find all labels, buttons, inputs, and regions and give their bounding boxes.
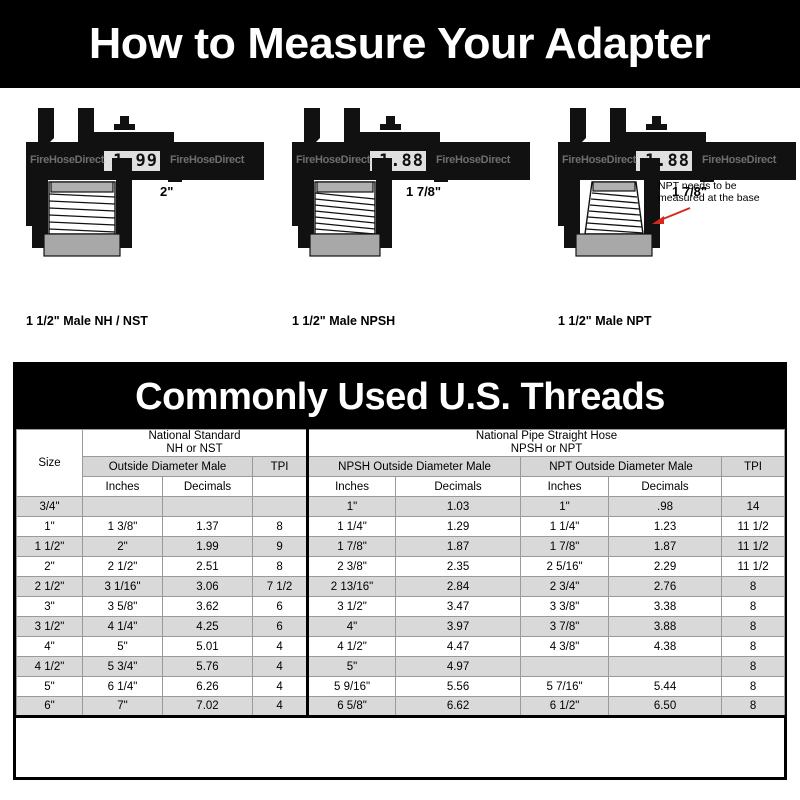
cell-npsh-decimals: 3.97	[396, 617, 521, 637]
cell-npsh-decimals: 6.62	[396, 697, 521, 717]
header-group-np: National Pipe Straight Hose NPSH or NPT	[308, 430, 785, 457]
cell-npsh-decimals: 3.47	[396, 597, 521, 617]
cell-npt-inches: 1 7/8"	[521, 537, 609, 557]
cell-npt-decimals: 3.38	[609, 597, 722, 617]
cell-npt-decimals: 6.50	[609, 697, 722, 717]
cell-npt-inches: 5 7/16"	[521, 677, 609, 697]
measurement-callout: 2"	[160, 184, 173, 199]
cell-npsh-decimals: 2.35	[396, 557, 521, 577]
diagram-npsh: FireHoseDirect FireHoseDirect 1.88 1 7/8…	[274, 88, 540, 350]
strip-watermark-left: FireHoseDirect	[296, 154, 370, 166]
cell-nh-decimals: 5.01	[163, 637, 253, 657]
table-row: 1"1 3/8"1.3781 1/4"1.291 1/4"1.2311 1/2	[17, 517, 785, 537]
header-group-np-line1: National Pipe Straight Hose	[309, 430, 784, 443]
cell-nh-tpi: 7 1/2	[253, 577, 308, 597]
caliper-illustration-nh-nst	[8, 98, 274, 288]
cell-np-tpi: 8	[722, 697, 785, 717]
cell-nh-tpi	[253, 497, 308, 517]
cell-npsh-decimals: 1.29	[396, 517, 521, 537]
caliper-display-value: 1.99	[113, 151, 158, 171]
cell-nh-inches: 5 3/4"	[83, 657, 163, 677]
cell-npsh-inches: 3 1/2"	[308, 597, 396, 617]
cell-nh-tpi: 4	[253, 637, 308, 657]
cell-npt-decimals	[609, 657, 722, 677]
cell-npt-inches: 3 3/8"	[521, 597, 609, 617]
cell-npsh-inches: 5"	[308, 657, 396, 677]
cell-size: 1"	[17, 517, 83, 537]
caliper-display-value: 1.88	[645, 151, 690, 171]
table-row: 3/4"1"1.031".9814	[17, 497, 785, 517]
cell-np-tpi: 8	[722, 657, 785, 677]
table-header-row-sub: Outside Diameter Male TPI NPSH Outside D…	[17, 457, 785, 477]
diagram-npt: FireHoseDirect FireHoseDirect 1.88 1 7/8…	[540, 88, 800, 350]
strip-watermark-left: FireHoseDirect	[562, 154, 636, 166]
cell-np-tpi: 11 1/2	[722, 517, 785, 537]
cell-size: 3/4"	[17, 497, 83, 517]
cell-nh-tpi: 6	[253, 597, 308, 617]
table-row: 5"6 1/4"6.2645 9/16"5.565 7/16"5.448	[17, 677, 785, 697]
cell-size: 4"	[17, 637, 83, 657]
header-unit-blank-np-tpi	[722, 477, 785, 497]
diagram-caption: 1 1/2" Male NH / NST	[26, 314, 148, 328]
cell-nh-inches: 3 5/8"	[83, 597, 163, 617]
cell-npt-inches: 2 3/4"	[521, 577, 609, 597]
cell-size: 4 1/2"	[17, 657, 83, 677]
cell-npsh-decimals: 4.47	[396, 637, 521, 657]
cell-npt-inches: 2 5/16"	[521, 557, 609, 577]
threads-table-block: Commonly Used U.S. Threads Size National…	[13, 362, 787, 780]
page-title-banner: How to Measure Your Adapter	[0, 0, 800, 88]
cell-npsh-inches: 5 9/16"	[308, 677, 396, 697]
cell-npt-inches: 1"	[521, 497, 609, 517]
cell-npt-decimals: 2.29	[609, 557, 722, 577]
cell-nh-inches: 7"	[83, 697, 163, 717]
header-unit-inches-nh: Inches	[83, 477, 163, 497]
cell-nh-inches: 2"	[83, 537, 163, 557]
table-row: 4 1/2"5 3/4"5.7645"4.978	[17, 657, 785, 677]
table-row: 3 1/2"4 1/4"4.2564"3.973 7/8"3.888	[17, 617, 785, 637]
npt-note-line1: NPT needs to be	[658, 180, 737, 192]
cell-nh-decimals: 1.99	[163, 537, 253, 557]
header-unit-decimals-npt: Decimals	[609, 477, 722, 497]
cell-npsh-inches: 4"	[308, 617, 396, 637]
cell-npsh-decimals: 5.56	[396, 677, 521, 697]
cell-size: 1 1/2"	[17, 537, 83, 557]
cell-npsh-inches: 1 7/8"	[308, 537, 396, 557]
table-row: 4"5"5.0144 1/2"4.474 3/8"4.388	[17, 637, 785, 657]
cell-nh-inches: 6 1/4"	[83, 677, 163, 697]
header-group-nh-line1: National Standard	[83, 430, 306, 443]
cell-nh-inches: 3 1/16"	[83, 577, 163, 597]
cell-np-tpi: 8	[722, 577, 785, 597]
cell-nh-tpi: 4	[253, 677, 308, 697]
table-head: Size National Standard NH or NST Nationa…	[17, 430, 785, 497]
cell-nh-inches: 1 3/8"	[83, 517, 163, 537]
header-group-nh-line2: NH or NST	[83, 443, 306, 456]
cell-npt-inches	[521, 657, 609, 677]
cell-npsh-decimals: 1.87	[396, 537, 521, 557]
cell-np-tpi: 14	[722, 497, 785, 517]
cell-nh-inches	[83, 497, 163, 517]
cell-nh-decimals	[163, 497, 253, 517]
cell-nh-tpi: 9	[253, 537, 308, 557]
page-root: How to Measure Your Adapter FireHoseDire…	[0, 0, 800, 800]
cell-np-tpi: 11 1/2	[722, 537, 785, 557]
header-np-tpi: TPI	[722, 457, 785, 477]
table-row: 2"2 1/2"2.5182 3/8"2.352 5/16"2.2911 1/2	[17, 557, 785, 577]
table-row: 2 1/2"3 1/16"3.067 1/22 13/16"2.842 3/4"…	[17, 577, 785, 597]
cell-size: 3 1/2"	[17, 617, 83, 637]
cell-nh-tpi: 4	[253, 697, 308, 717]
cell-nh-tpi: 8	[253, 517, 308, 537]
cell-size: 3"	[17, 597, 83, 617]
header-npt-od-male: NPT Outside Diameter Male	[521, 457, 722, 477]
header-group-nh: National Standard NH or NST	[83, 430, 308, 457]
cell-npsh-inches: 4 1/2"	[308, 637, 396, 657]
table-row: 1 1/2"2"1.9991 7/8"1.871 7/8"1.8711 1/2	[17, 537, 785, 557]
cell-np-tpi: 8	[722, 677, 785, 697]
table-header-row-units: Inches Decimals Inches Decimals Inches D…	[17, 477, 785, 497]
header-size: Size	[17, 430, 83, 497]
cell-npsh-decimals: 2.84	[396, 577, 521, 597]
table-header-row-groups: Size National Standard NH or NST Nationa…	[17, 430, 785, 457]
cell-npt-inches: 1 1/4"	[521, 517, 609, 537]
header-nh-od-male: Outside Diameter Male	[83, 457, 253, 477]
cell-nh-decimals: 1.37	[163, 517, 253, 537]
diagram-band: FireHoseDirect	[0, 88, 800, 350]
cell-size: 6"	[17, 697, 83, 717]
cell-np-tpi: 8	[722, 597, 785, 617]
header-unit-blank-nh-tpi	[253, 477, 308, 497]
header-unit-decimals-nh: Decimals	[163, 477, 253, 497]
caliper-display-value: 1.88	[379, 151, 424, 171]
cell-npsh-inches: 6 5/8"	[308, 697, 396, 717]
cell-npt-inches: 4 3/8"	[521, 637, 609, 657]
cell-np-tpi: 8	[722, 617, 785, 637]
header-unit-inches-npsh: Inches	[308, 477, 396, 497]
cell-npt-decimals: 1.23	[609, 517, 722, 537]
cell-size: 2 1/2"	[17, 577, 83, 597]
cell-nh-decimals: 3.62	[163, 597, 253, 617]
strip-watermark-left: FireHoseDirect	[30, 154, 104, 166]
cell-nh-tpi: 4	[253, 657, 308, 677]
cell-size: 2"	[17, 557, 83, 577]
cell-np-tpi: 8	[722, 637, 785, 657]
cell-npsh-decimals: 1.03	[396, 497, 521, 517]
cell-size: 5"	[17, 677, 83, 697]
cell-npt-decimals: 4.38	[609, 637, 722, 657]
strip-watermark-right: FireHoseDirect	[436, 154, 510, 166]
cell-npsh-inches: 1"	[308, 497, 396, 517]
cell-np-tpi: 11 1/2	[722, 557, 785, 577]
cell-npt-decimals: 1.87	[609, 537, 722, 557]
cell-nh-tpi: 8	[253, 557, 308, 577]
cell-npt-decimals: 3.88	[609, 617, 722, 637]
table-title: Commonly Used U.S. Threads	[135, 376, 665, 419]
cell-nh-decimals: 3.06	[163, 577, 253, 597]
cell-nh-decimals: 4.25	[163, 617, 253, 637]
cell-nh-decimals: 5.76	[163, 657, 253, 677]
cell-npsh-inches: 1 1/4"	[308, 517, 396, 537]
table-title-banner: Commonly Used U.S. Threads	[16, 365, 784, 429]
cell-npsh-inches: 2 3/8"	[308, 557, 396, 577]
npt-base-note: NPT needs to be measured at the base	[658, 180, 760, 204]
header-unit-decimals-npsh: Decimals	[396, 477, 521, 497]
header-npsh-od-male: NPSH Outside Diameter Male	[308, 457, 521, 477]
table-row: 6"7"7.0246 5/8"6.626 1/2"6.508	[17, 697, 785, 717]
measurement-callout: 1 7/8"	[406, 184, 441, 199]
cell-nh-decimals: 7.02	[163, 697, 253, 717]
npt-note-line2: measured at the base	[658, 192, 760, 204]
header-unit-inches-npt: Inches	[521, 477, 609, 497]
strip-watermark-right: FireHoseDirect	[170, 154, 244, 166]
cell-nh-inches: 4 1/4"	[83, 617, 163, 637]
strip-watermark-right: FireHoseDirect	[702, 154, 776, 166]
cell-nh-tpi: 6	[253, 617, 308, 637]
diagram-nh-nst: FireHoseDirect FireHoseDirect 1.99 2" 1 …	[8, 88, 274, 350]
table-body: 3/4"1"1.031".98141"1 3/8"1.3781 1/4"1.29…	[17, 497, 785, 717]
diagram-caption: 1 1/2" Male NPSH	[292, 314, 395, 328]
cell-npt-inches: 3 7/8"	[521, 617, 609, 637]
header-nh-tpi: TPI	[253, 457, 308, 477]
diagram-caption: 1 1/2" Male NPT	[558, 314, 651, 328]
threads-table: Size National Standard NH or NST Nationa…	[16, 429, 785, 718]
cell-nh-decimals: 6.26	[163, 677, 253, 697]
cell-npt-decimals: 2.76	[609, 577, 722, 597]
cell-npsh-decimals: 4.97	[396, 657, 521, 677]
table-row: 3"3 5/8"3.6263 1/2"3.473 3/8"3.388	[17, 597, 785, 617]
cell-nh-inches: 5"	[83, 637, 163, 657]
cell-npsh-inches: 2 13/16"	[308, 577, 396, 597]
cell-npt-decimals: 5.44	[609, 677, 722, 697]
cell-nh-inches: 2 1/2"	[83, 557, 163, 577]
page-title: How to Measure Your Adapter	[89, 19, 710, 69]
cell-npt-decimals: .98	[609, 497, 722, 517]
header-group-np-line2: NPSH or NPT	[309, 443, 784, 456]
cell-nh-decimals: 2.51	[163, 557, 253, 577]
cell-npt-inches: 6 1/2"	[521, 697, 609, 717]
